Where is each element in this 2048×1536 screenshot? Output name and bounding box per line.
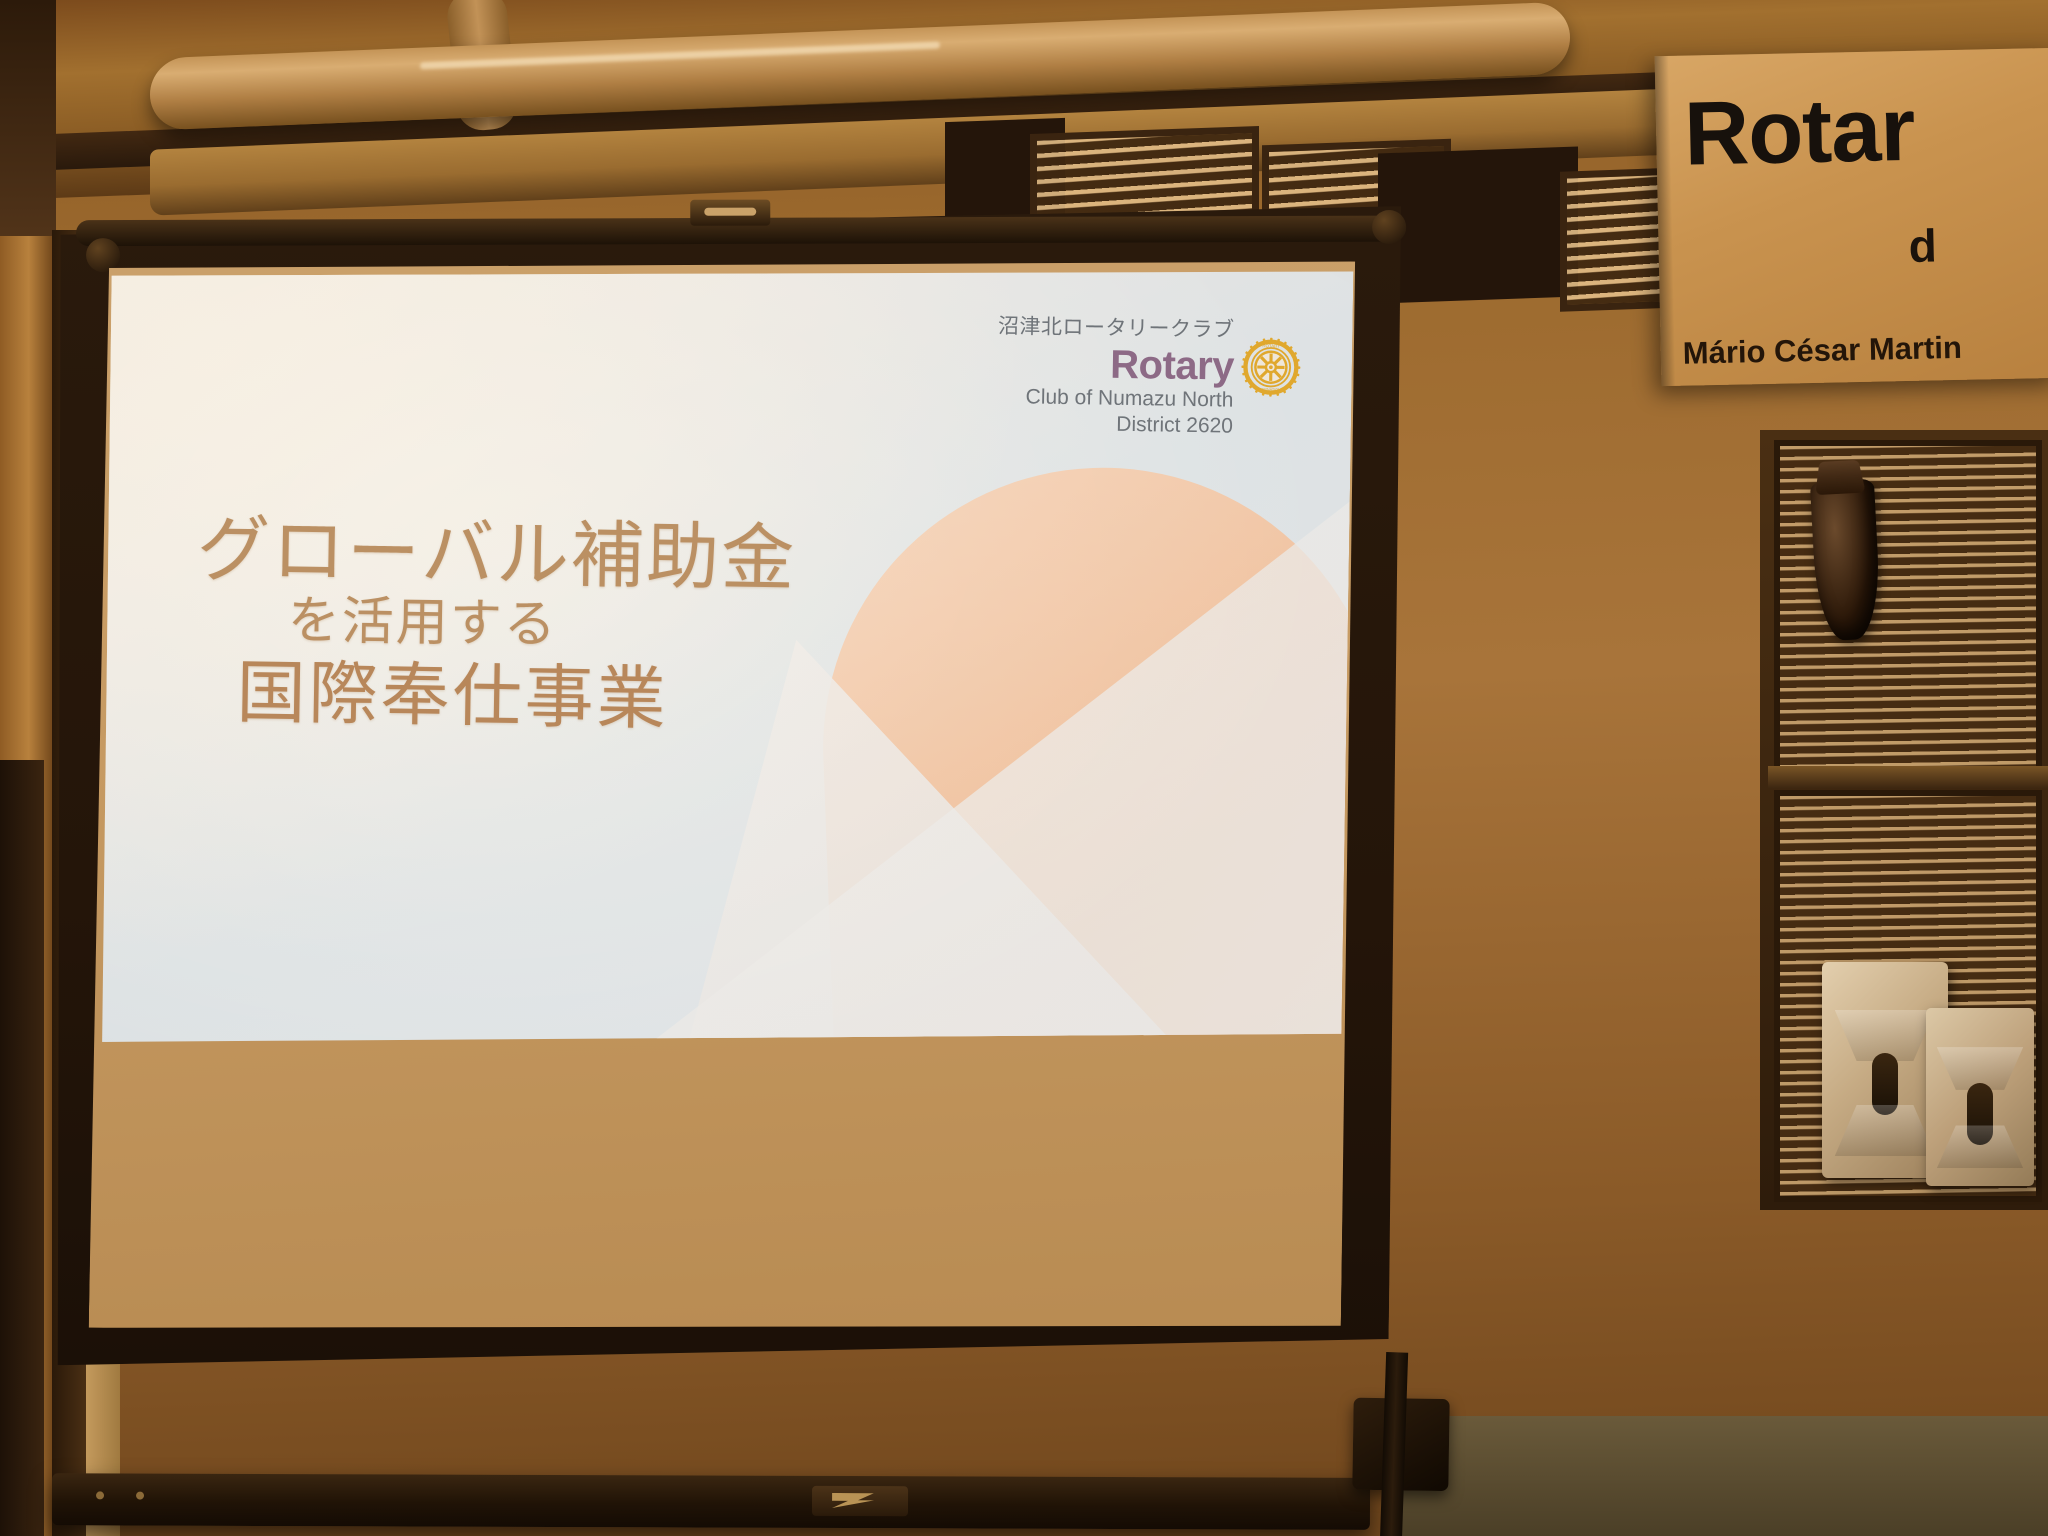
banner-person-name: Mário César Martin — [1682, 330, 1962, 372]
bar-foot-1 — [96, 1491, 104, 1499]
rotary-wordmark: Rotary — [997, 342, 1234, 388]
floor-strip — [1390, 1416, 2048, 1536]
slide-title-line-2: を活用する — [287, 590, 795, 661]
wall-shelf-unit — [1760, 430, 2048, 1210]
screenshot-root: Rotar d Mário César Martin 沼津北ロータリークラブ R… — [0, 0, 2048, 1536]
rod-knob-left — [86, 238, 120, 272]
bar-foot-2 — [136, 1492, 144, 1500]
slide-title-line-3: 国際奉仕事業 — [236, 653, 794, 742]
shelf-lower — [1774, 790, 2042, 1202]
banner-subtext: d — [1908, 218, 1937, 273]
slide-title-line-1: グローバル補助金 — [196, 511, 796, 598]
shelf-upper — [1774, 440, 2042, 772]
rotary-gear-wheel-icon: ROTARY INTERNATIONAL — [1239, 336, 1302, 399]
projected-slide: 沼津北ロータリークラブ Rotary Club of Numazu North … — [97, 252, 1353, 1061]
vase-notch-bottom — [1835, 1105, 1936, 1157]
slide-title-block: グローバル補助金 を活用する 国際奉仕事業 — [194, 511, 797, 741]
rotary-logo-block: 沼津北ロータリークラブ Rotary Club of Numazu North … — [996, 310, 1302, 440]
screen-pull-clip — [690, 200, 770, 226]
banner-headline: Rotar — [1683, 79, 1915, 187]
rotary-wall-banner: Rotar d Mário César Martin — [1655, 48, 2048, 386]
rod-knob-right — [1372, 210, 1407, 245]
left-upper-column — [0, 0, 56, 250]
screen-bottom-bar — [52, 1473, 1370, 1530]
svg-text:ROTARY: ROTARY — [1262, 343, 1280, 348]
screen-brand-badge — [812, 1486, 908, 1516]
cream-vase-small — [1926, 1008, 2034, 1186]
club-name-english: Club of Numazu North — [997, 384, 1234, 413]
rotary-logo-texts: 沼津北ロータリークラブ Rotary Club of Numazu North … — [996, 310, 1234, 439]
projector-screen: 沼津北ロータリークラブ Rotary Club of Numazu North … — [34, 185, 1455, 1536]
svg-text:INTERNATIONAL: INTERNATIONAL — [1256, 388, 1286, 392]
shelf-divider — [1768, 766, 2048, 788]
vase-notch-bottom-2 — [1937, 1125, 2023, 1168]
district-number: District 2620 — [996, 410, 1233, 439]
club-name-japanese: 沼津北ロータリークラブ — [998, 310, 1235, 344]
dark-ceramic-vase — [1810, 478, 1882, 641]
screen-stand-post — [1380, 1352, 1409, 1536]
